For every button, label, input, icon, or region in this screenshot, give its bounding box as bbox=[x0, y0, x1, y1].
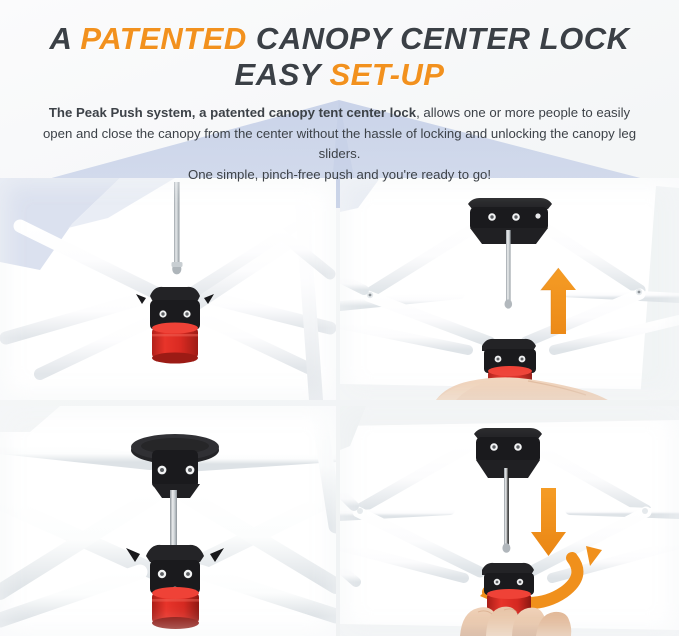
body-paragraph: The Peak Push system, a patented canopy … bbox=[0, 103, 679, 185]
headline-line-1: A PATENTED CANOPY CENTER LOCK bbox=[0, 0, 679, 56]
headline-accent-set-up: SET-UP bbox=[330, 57, 445, 92]
header: A PATENTED CANOPY CENTER LOCK EASY SET-U… bbox=[0, 0, 679, 178]
body-lead-text: The Peak Push system, a patented canopy … bbox=[49, 105, 416, 120]
panel-bottom-right bbox=[340, 406, 679, 636]
panel-top-right bbox=[340, 178, 679, 400]
red-base-tl bbox=[152, 323, 198, 364]
headline-line-2: EASY SET-UP bbox=[0, 56, 679, 92]
headline-text-easy: EASY bbox=[235, 57, 330, 92]
body-closing-text: One simple, pinch-free push and you're r… bbox=[188, 167, 491, 182]
product-feature-graphic: A PATENTED CANOPY CENTER LOCK EASY SET-U… bbox=[0, 0, 679, 636]
headline-text-canopy-center-lock: CANOPY CENTER LOCK bbox=[247, 21, 630, 56]
panel-bottom-left-artwork bbox=[0, 406, 336, 636]
headline-accent-patented: PATENTED bbox=[80, 21, 246, 56]
panel-top-left bbox=[0, 178, 336, 400]
panel-bottom-right-artwork bbox=[340, 406, 679, 636]
panel-top-left-artwork bbox=[0, 178, 336, 400]
panel-bottom-left bbox=[0, 406, 336, 636]
photo-grid bbox=[0, 178, 679, 636]
headline-text-a: A bbox=[49, 21, 80, 56]
red-base-bl bbox=[152, 587, 199, 629]
panel-top-right-artwork bbox=[340, 178, 679, 400]
